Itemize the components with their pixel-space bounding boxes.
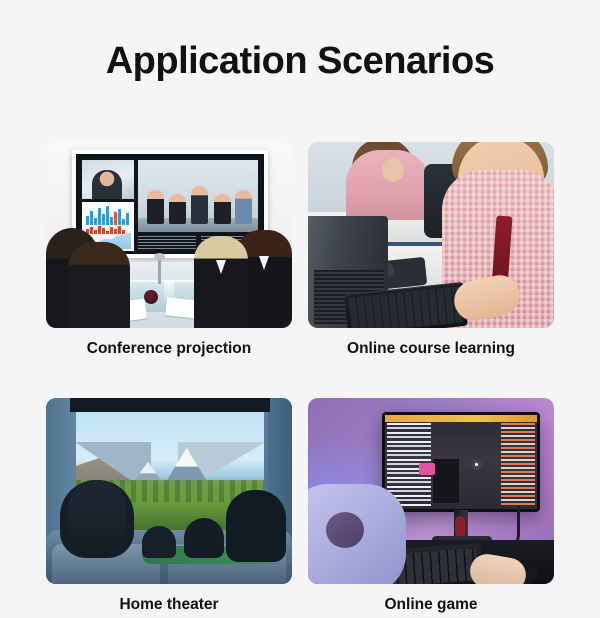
attendee-person (194, 236, 248, 328)
microphone-icon (158, 258, 161, 284)
page-title: Application Scenarios (0, 42, 600, 80)
viewer-child-left (142, 526, 176, 558)
scenario-card-home-theater[interactable]: Home theater (46, 398, 292, 618)
screen-valance (70, 398, 270, 412)
home-theater-image[interactable] (46, 398, 292, 584)
scenario-card-online-game[interactable]: Online game (308, 398, 554, 618)
scenario-grid: Conference projection (46, 142, 554, 618)
gamer-elbow (326, 512, 364, 548)
video-feed-man-icon (82, 160, 134, 199)
video-feed-meeting-room-icon (138, 160, 258, 232)
online-game-image[interactable] (308, 398, 554, 584)
viewer-adult-right (226, 490, 286, 562)
gaming-monitor-screen (385, 415, 537, 509)
attendee-person (68, 242, 130, 328)
game-crosshair-icon (475, 463, 478, 466)
student-girl-face (382, 158, 404, 182)
scenario-row-1: Conference projection (46, 142, 554, 362)
scenario-caption-online-game: Online game (308, 596, 554, 618)
monitor-stand-accent (455, 516, 465, 538)
wine-glass-icon (144, 290, 158, 304)
game-ui-top-bar (385, 415, 537, 422)
game-ui-highlight (419, 463, 435, 475)
game-chat-column-right (501, 423, 535, 507)
bar-chart-icon (85, 205, 131, 225)
conference-projection-image[interactable] (46, 142, 292, 328)
scenario-row-2: Home theater (46, 398, 554, 618)
viewer-adult-left (68, 480, 126, 556)
online-course-learning-image[interactable] (308, 142, 554, 328)
scenario-card-conference-projection[interactable]: Conference projection (46, 142, 292, 362)
scenario-caption-home-theater: Home theater (46, 596, 292, 618)
viewer-child-right (184, 518, 224, 558)
scenario-caption-conference-projection: Conference projection (46, 340, 292, 362)
row-spacer (46, 362, 554, 398)
scenario-card-online-course-learning[interactable]: Online course learning (308, 142, 554, 362)
red-bar-chart-icon (85, 226, 131, 234)
scenario-caption-online-course-learning: Online course learning (308, 340, 554, 362)
game-ui-panel (433, 459, 459, 503)
